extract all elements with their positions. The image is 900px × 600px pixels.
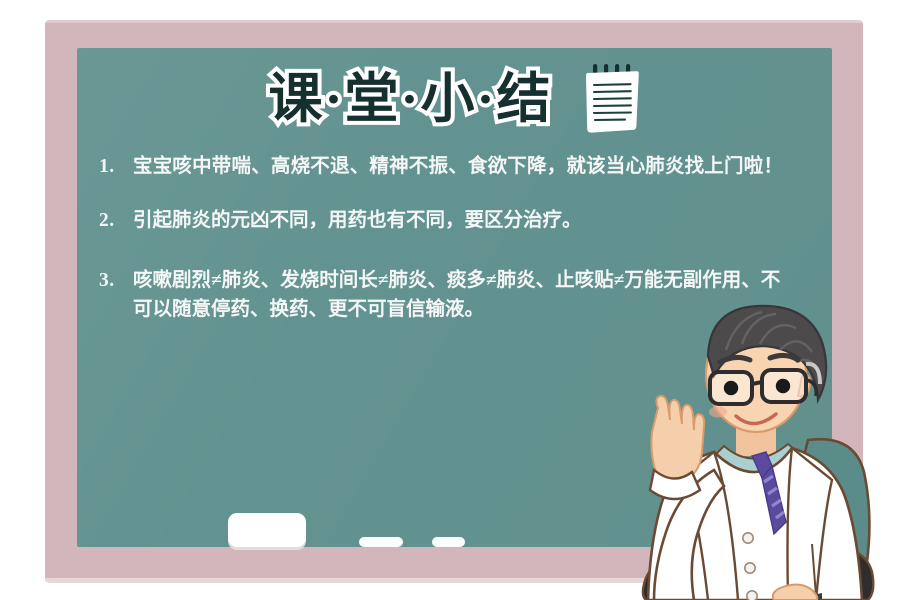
list-item: 1. 宝宝咳中带喘、高烧不退、精神不振、食欲下降，就该当心肺炎找上门啦！	[99, 152, 799, 181]
slide-canvas: 课·堂·小·结	[0, 0, 900, 600]
board-eraser[interactable]	[228, 513, 306, 547]
list-item-text: 引起肺炎的元凶不同，用药也有不同，要区分治疗。	[133, 206, 799, 235]
chalk-stick-2[interactable]	[432, 537, 465, 547]
list-item-number: 3.	[99, 266, 133, 325]
list-item-text: 宝宝咳中带喘、高烧不退、精神不振、食欲下降，就该当心肺炎找上门啦！	[133, 152, 799, 181]
list-item-number: 1.	[99, 152, 133, 181]
board-title-row: 课·堂·小·结	[77, 64, 832, 134]
list-item: 2. 引起肺炎的元凶不同，用药也有不同，要区分治疗。	[99, 206, 799, 235]
frame-top-highlight	[45, 20, 863, 23]
list-item-number: 2.	[99, 206, 133, 235]
page-title: 课·堂·小·结	[268, 68, 552, 130]
doctor-illustration	[640, 300, 900, 600]
chalk-stick-1[interactable]	[359, 537, 403, 547]
notepad-icon	[583, 64, 641, 134]
